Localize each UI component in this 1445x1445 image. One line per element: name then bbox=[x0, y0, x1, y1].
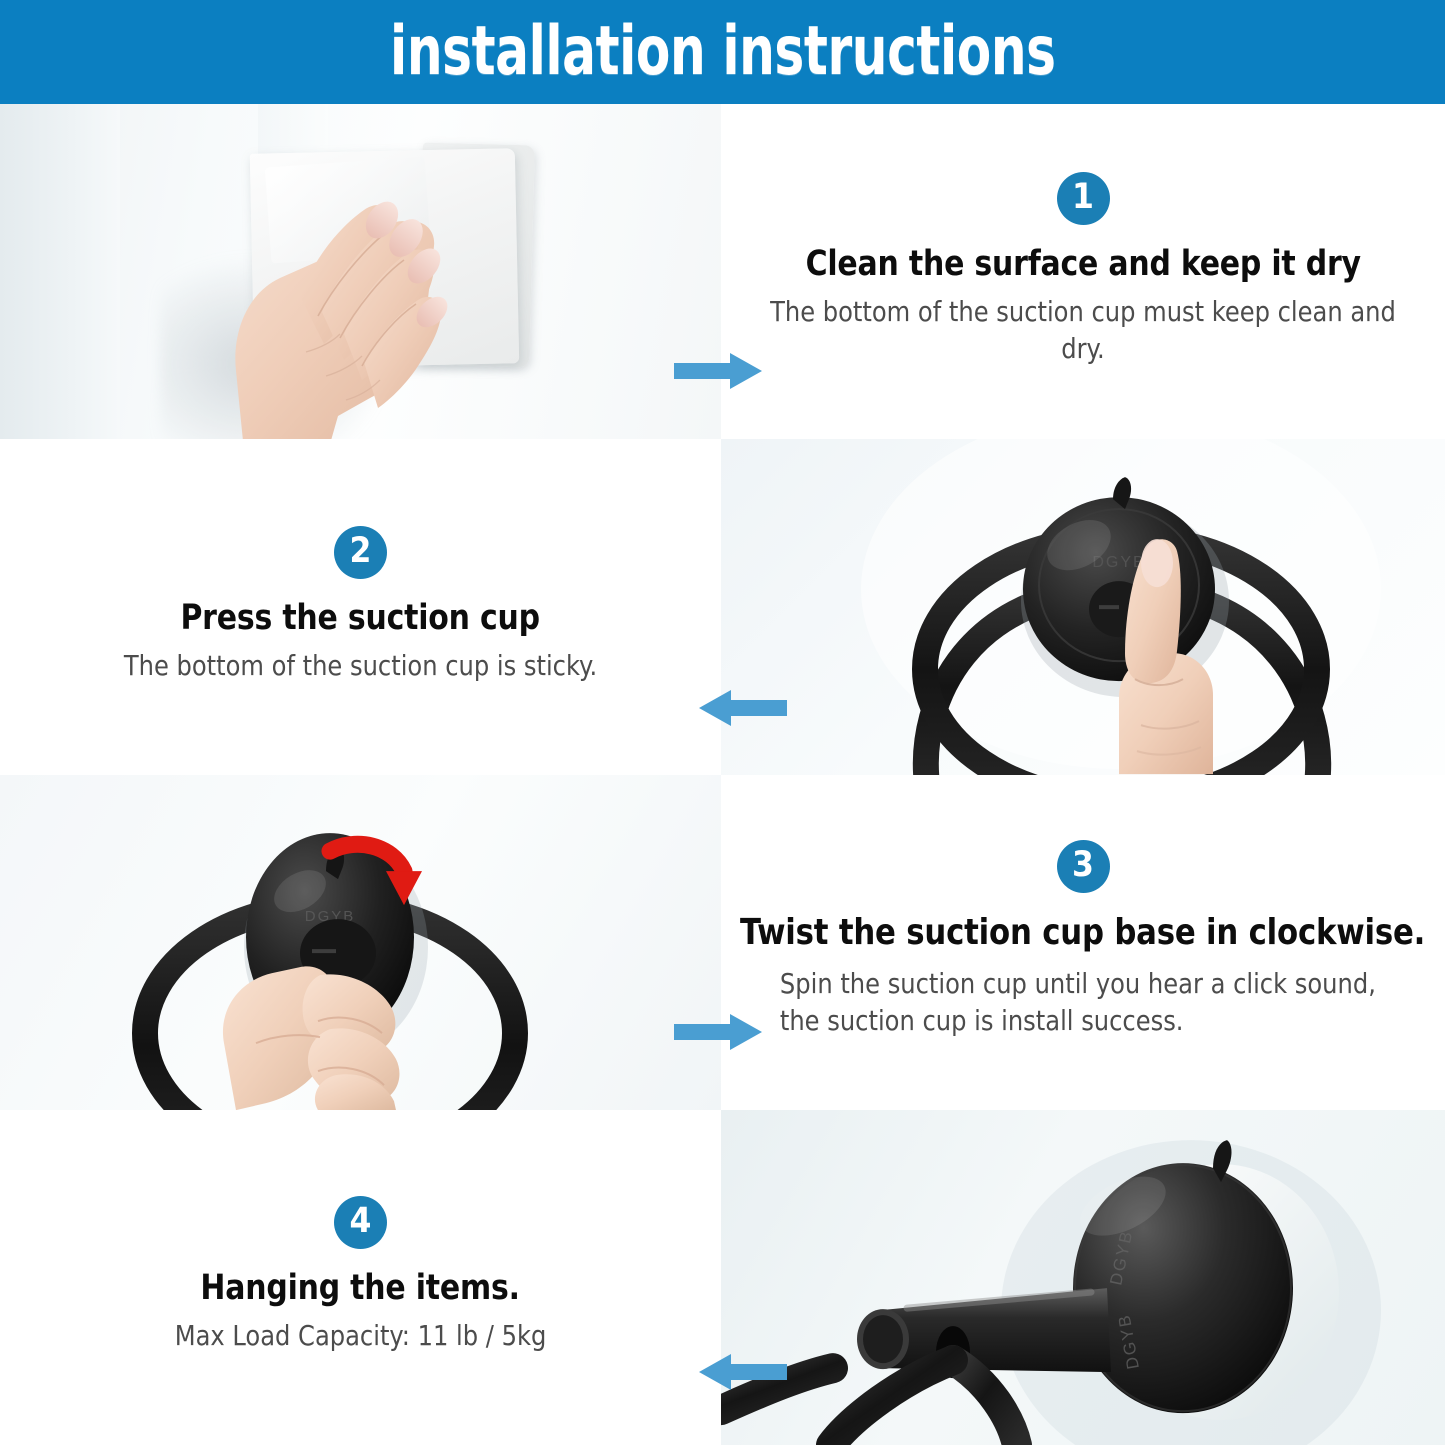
step-number-badge-3: 3 bbox=[1057, 840, 1110, 893]
arrow-left-icon-step-2 bbox=[697, 688, 789, 728]
photo-hanging-items: DGYB DGYB bbox=[721, 1110, 1445, 1445]
photo-press-suction-cup: DGYB bbox=[721, 439, 1445, 774]
step-1-text: 1 Clean the surface and keep it dry The … bbox=[721, 104, 1445, 439]
step-3-photo: DGYB bbox=[0, 775, 721, 1110]
step-subtitle-2: The bottom of the suction cup is sticky. bbox=[124, 647, 597, 685]
step-3-text: 3 Twist the suction cup base in clockwis… bbox=[721, 775, 1445, 1110]
steps-grid: 1 Clean the surface and keep it dry The … bbox=[0, 104, 1445, 1445]
header-banner: installation instructions bbox=[0, 0, 1445, 104]
arrow-left-icon-step-4 bbox=[697, 1352, 789, 1392]
step-3-textblock: 3 Twist the suction cup base in clockwis… bbox=[721, 775, 1445, 1110]
page-title: installation instructions bbox=[390, 18, 1056, 86]
step-subtitle-3: Spin the suction cup until you hear a cl… bbox=[780, 965, 1398, 1040]
photo-twist-suction-cup: DGYB bbox=[0, 775, 721, 1110]
step-4-photo: DGYB DGYB bbox=[721, 1110, 1445, 1445]
step-2-textblock: 2 Press the suction cup The bottom of th… bbox=[0, 439, 721, 774]
hand-illustration bbox=[188, 166, 488, 439]
infographic-page: installation instructions bbox=[0, 0, 1445, 1445]
step-4-text: 4 Hanging the items. Max Load Capacity: … bbox=[0, 1110, 721, 1445]
step-heading-3: Twist the suction cup base in clockwise. bbox=[740, 913, 1425, 953]
photo-clean-surface bbox=[0, 104, 721, 439]
step-heading-1: Clean the surface and keep it dry bbox=[805, 245, 1360, 284]
step-number-badge-4: 4 bbox=[334, 1196, 387, 1249]
wall-highlight bbox=[0, 104, 120, 439]
step-heading-2: Press the suction cup bbox=[181, 599, 540, 638]
step-number-badge-1: 1 bbox=[1057, 172, 1110, 225]
step-1-photo bbox=[0, 104, 721, 439]
suction-cup-press-illustration: DGYB bbox=[721, 439, 1445, 774]
step-2-photo: DGYB bbox=[721, 439, 1445, 774]
arrow-right-icon-step-3 bbox=[672, 1012, 764, 1052]
step-heading-4: Hanging the items. bbox=[201, 1269, 520, 1308]
arrow-right-icon-step-1 bbox=[672, 351, 764, 391]
product-render-illustration: DGYB DGYB bbox=[721, 1110, 1445, 1445]
step-2-text: 2 Press the suction cup The bottom of th… bbox=[0, 439, 721, 774]
step-4-textblock: 4 Hanging the items. Max Load Capacity: … bbox=[0, 1110, 721, 1445]
step-1-textblock: 1 Clean the surface and keep it dry The … bbox=[721, 104, 1445, 439]
twist-suction-cup-illustration: DGYB bbox=[0, 775, 721, 1110]
step-number-badge-2: 2 bbox=[334, 526, 387, 579]
step-subtitle-1: The bottom of the suction cup must keep … bbox=[768, 293, 1398, 368]
step-subtitle-4: Max Load Capacity: 11 lb / 5kg bbox=[175, 1317, 547, 1355]
